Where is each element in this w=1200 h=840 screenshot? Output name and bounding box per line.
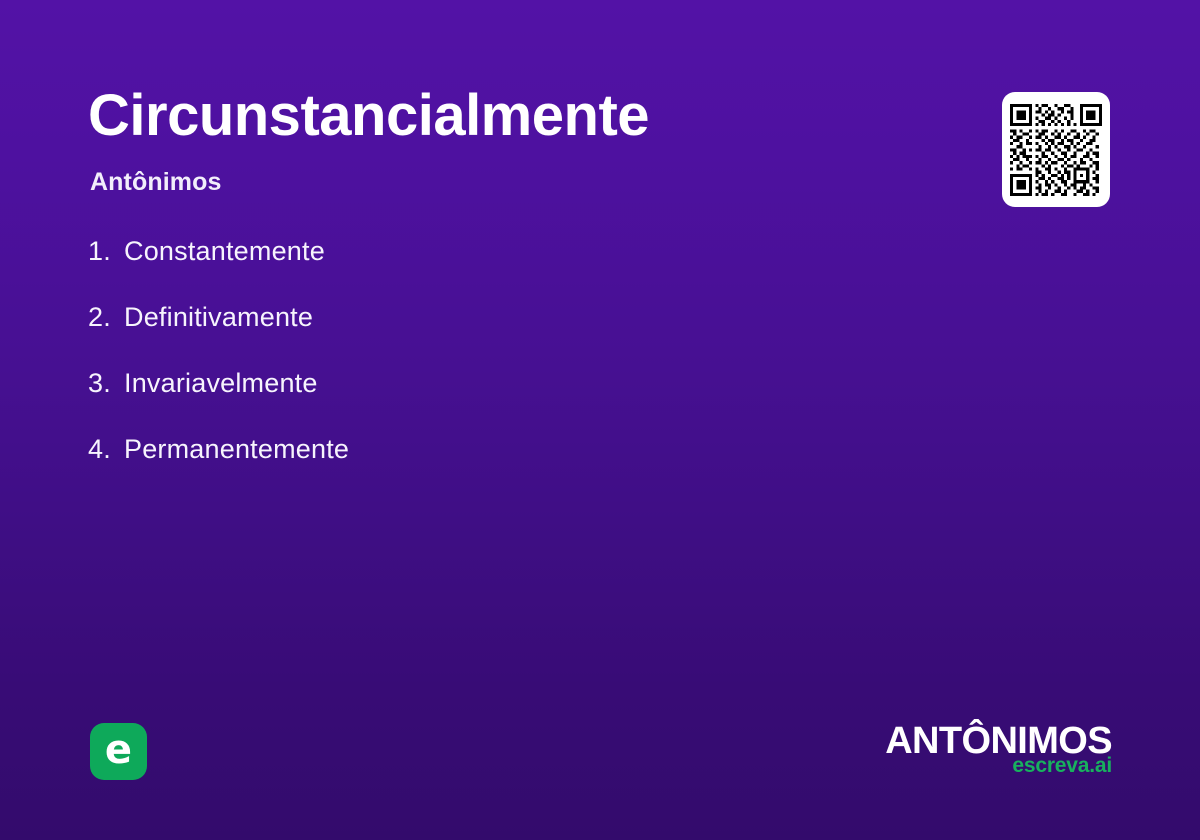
list-item: 4. Permanentemente (88, 434, 788, 500)
brand-badge-letter: e (105, 730, 132, 770)
list-item-word: Constantemente (124, 236, 325, 267)
list-item: 3. Invariavelmente (88, 368, 788, 434)
page-subtitle: Antônimos (90, 168, 221, 197)
qr-code-icon[interactable] (1002, 92, 1110, 207)
antonym-list: 1. Constantemente 2. Definitivamente 3. … (88, 236, 788, 500)
list-item-index: 3. (88, 368, 124, 399)
list-item-word: Definitivamente (124, 302, 313, 333)
list-item-word: Invariavelmente (124, 368, 318, 399)
list-item-index: 2. (88, 302, 124, 333)
list-item-index: 4. (88, 434, 124, 465)
footer-brand-logo[interactable]: ANTÔNIMOS escreva.ai (885, 722, 1112, 776)
antonyms-card: Circunstancialmente Antônimos 1. Constan… (0, 0, 1200, 840)
list-item: 2. Definitivamente (88, 302, 788, 368)
escreva-logo-badge[interactable]: e (90, 723, 147, 780)
list-item-index: 1. (88, 236, 124, 267)
list-item: 1. Constantemente (88, 236, 788, 302)
page-title: Circunstancialmente (88, 86, 968, 147)
list-item-word: Permanentemente (124, 434, 349, 465)
